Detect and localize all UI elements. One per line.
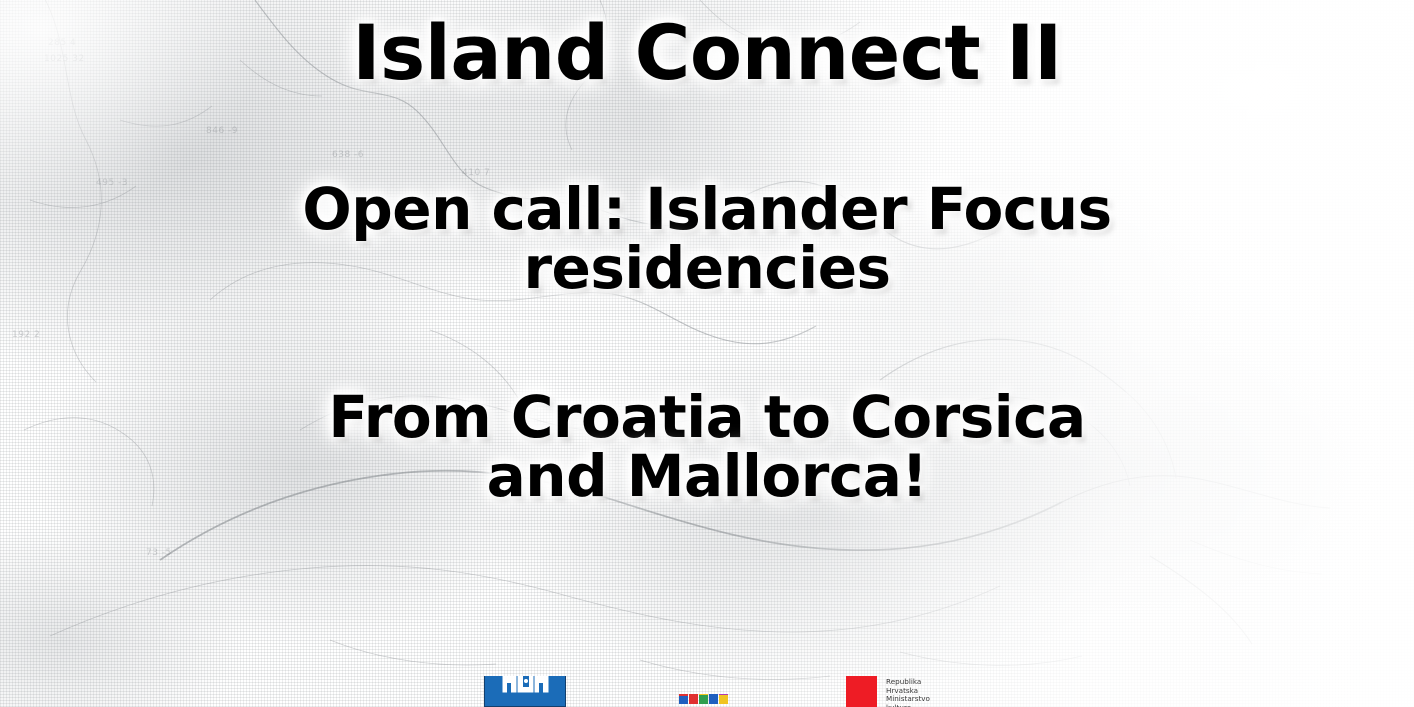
zagreb-coat-of-arms-icon — [484, 676, 566, 707]
subtitle-line-2: residencies — [302, 239, 1111, 298]
page-title: Island Connect II — [352, 14, 1061, 92]
subtitle-line-1: Open call: Islander Focus — [302, 175, 1111, 243]
croatia-ministry-logo: Republika Hrvatska Ministarstvo kulture — [846, 676, 930, 707]
zagreb-coat-of-arms-logo — [484, 676, 566, 707]
tagline-line-2: and Mallorca! — [328, 447, 1085, 506]
ministry-logo-text: Republika Hrvatska Ministarstvo kulture — [886, 676, 930, 707]
tagline: From Croatia to Corsica and Mallorca! — [328, 388, 1085, 506]
logo-strip: Republika Hrvatska Ministarstvo kulture — [0, 661, 1414, 707]
headline-stack: Island Connect II Open call: Islander Fo… — [0, 0, 1414, 707]
subtitle: Open call: Islander Focus residencies — [302, 180, 1111, 298]
ministry-red-square-icon — [846, 676, 877, 707]
colored-blocks-logo — [678, 694, 734, 707]
tagline-line-1: From Croatia to Corsica — [328, 383, 1085, 451]
colored-blocks-icon — [678, 694, 734, 707]
slide-canvas: 285 4 1025 32 495 -3 846 -9 638 -6 192 2… — [0, 0, 1414, 707]
